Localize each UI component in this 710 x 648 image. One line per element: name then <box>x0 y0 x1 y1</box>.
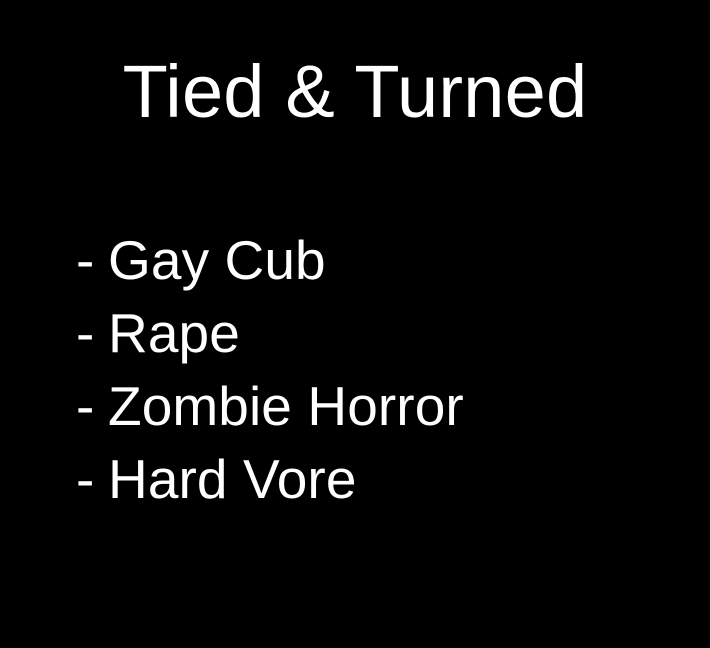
bullet-dash-icon: - <box>76 370 108 443</box>
bullet-dash-icon: - <box>76 224 108 297</box>
list-item: -Hard Vore <box>76 443 464 516</box>
list-item-label: Gay Cub <box>108 229 326 291</box>
list-item: -Zombie Horror <box>76 370 464 443</box>
list-item-label: Rape <box>108 302 240 364</box>
list-item: -Rape <box>76 297 464 370</box>
bullet-dash-icon: - <box>76 297 108 370</box>
list-item-label: Zombie Horror <box>108 375 464 437</box>
bullet-list: -Gay Cub -Rape -Zombie Horror -Hard Vore <box>76 224 464 516</box>
list-item: -Gay Cub <box>76 224 464 297</box>
list-item-label: Hard Vore <box>108 448 357 510</box>
bullet-dash-icon: - <box>76 443 108 516</box>
page-title: Tied & Turned <box>0 55 710 129</box>
presentation-slide: Tied & Turned -Gay Cub -Rape -Zombie Hor… <box>0 0 710 648</box>
